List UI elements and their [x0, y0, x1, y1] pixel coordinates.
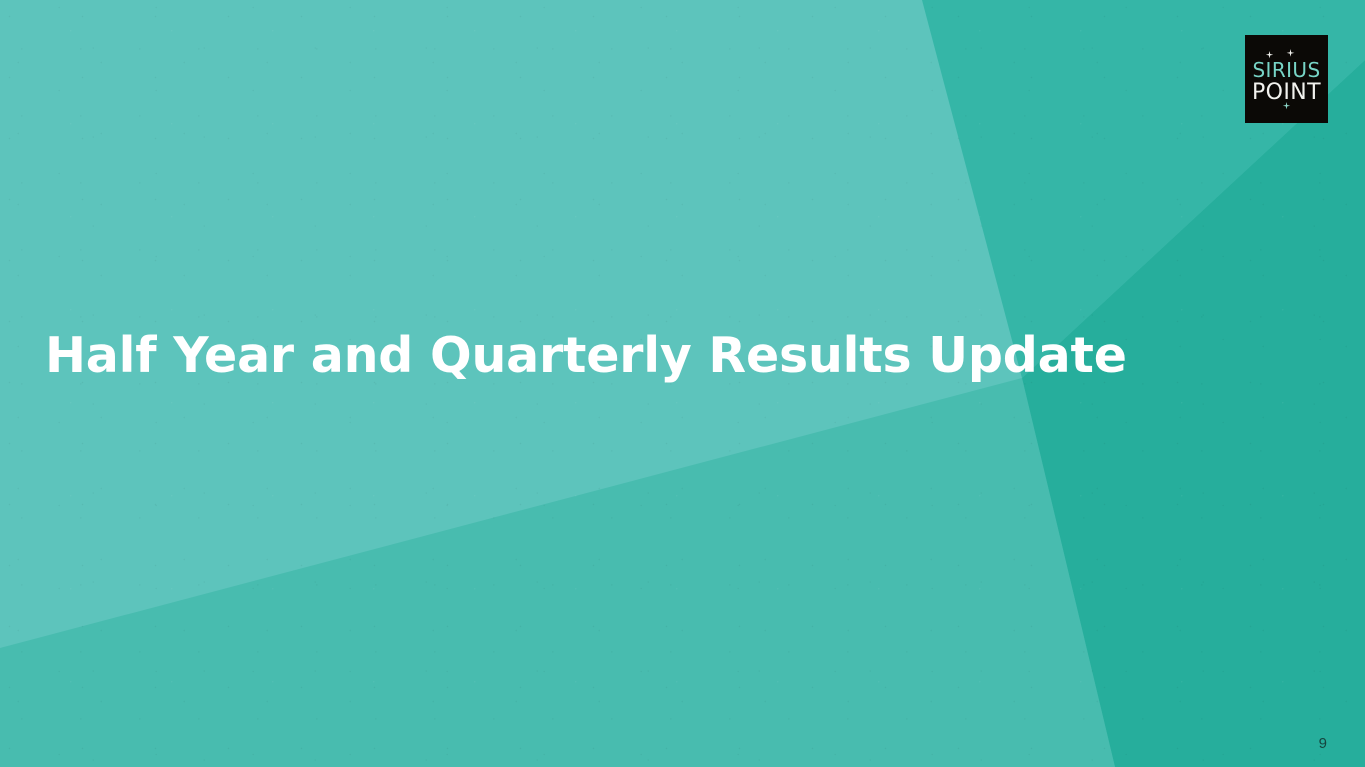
siriuspoint-logo: SIRIUS POINT — [1245, 35, 1328, 123]
slide-title: Half Year and Quarterly Results Update — [45, 325, 1145, 387]
page-number: 9 — [1319, 735, 1327, 753]
logo-text-sirius: SIRIUS — [1252, 58, 1320, 82]
presentation-slide: SIRIUS POINT Half Year and Quarterly Res… — [0, 0, 1365, 767]
logo-text-point: POINT — [1252, 80, 1321, 105]
sparkle-icon — [1287, 49, 1295, 57]
logo-artwork: SIRIUS POINT — [1245, 35, 1328, 123]
